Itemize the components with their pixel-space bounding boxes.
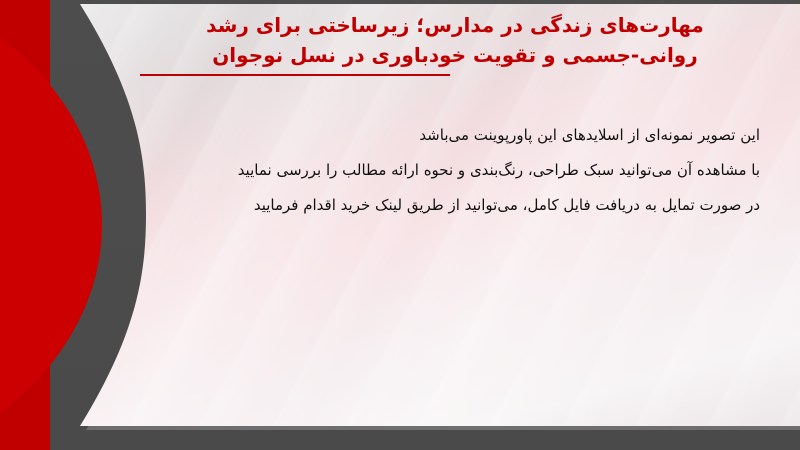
slide-body: این تصویر نمونه‌ای از اسلایدهای این پاور… — [140, 118, 760, 223]
slide-canvas: مهارت‌های زندگی در مدارس؛ زیرساختی برای … — [0, 0, 800, 450]
slide-body-line-2: با مشاهده آن می‌توانید سبک طراحی، رنگ‌بن… — [140, 153, 760, 188]
slide-body-line-3: در صورت تمایل به دریافت فایل کامل، می‌تو… — [140, 188, 760, 223]
slide-title-line-1: مهارت‌های زندگی در مدارس؛ زیرساختی برای … — [150, 10, 760, 40]
slide-title: مهارت‌های زندگی در مدارس؛ زیرساختی برای … — [150, 10, 760, 70]
slide-body-line-1: این تصویر نمونه‌ای از اسلایدهای این پاور… — [140, 118, 760, 153]
title-underline-rule — [140, 74, 450, 76]
slide-title-line-2: روانی-جسمی و تقویت خودباوری در نسل نوجوا… — [150, 40, 760, 70]
